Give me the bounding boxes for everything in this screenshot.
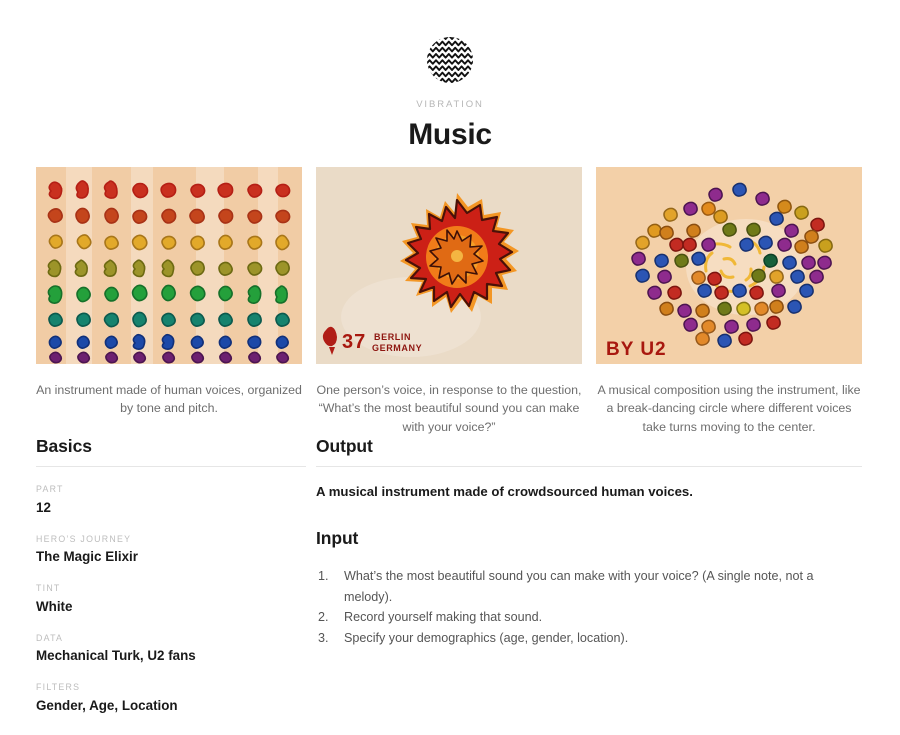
field-label: PART: [36, 485, 306, 494]
basics-divider: [36, 466, 306, 467]
page-kicker: VIBRATION: [0, 100, 900, 110]
list-item: What’s the most beautiful sound you can …: [316, 566, 862, 607]
field-value: 12: [36, 500, 306, 517]
composition-spiral-artwork: BY U2: [596, 167, 862, 364]
field-data: DATA Mechanical Turk, U2 fans: [36, 634, 306, 666]
gallery-item-instrument: An instrument made of human voices, orga…: [36, 167, 302, 436]
single-voice-starburst-artwork: 37 BERLIN GERMANY: [316, 167, 582, 364]
page-title: Music: [0, 119, 900, 151]
artwork-credit: BY U2: [606, 339, 667, 360]
vibration-wave-circle-icon: [418, 34, 482, 86]
output-text: A musical instrument made of crowdsource…: [316, 483, 862, 501]
gallery-caption: One person’s voice, in response to the q…: [316, 381, 582, 436]
field-label: TINT: [36, 584, 306, 593]
gallery-row: An instrument made of human voices, orga…: [36, 167, 862, 436]
field-part: PART 12: [36, 485, 306, 517]
field-heros-journey: HERO’S JOURNEY The Magic Elixir: [36, 535, 306, 567]
output-input-section: Output A musical instrument made of crow…: [316, 436, 862, 715]
list-item: Record yourself making that sound.: [316, 607, 862, 627]
output-divider: [316, 466, 862, 467]
field-filters: FILTERS Gender, Age, Location: [36, 683, 306, 715]
output-heading: Output: [316, 436, 862, 457]
gallery-caption: An instrument made of human voices, orga…: [36, 381, 302, 418]
input-heading: Input: [316, 528, 862, 549]
instrument-voice-grid-artwork: [36, 167, 302, 364]
details-columns: Basics PART 12 HERO’S JOURNEY The Magic …: [36, 436, 862, 715]
field-value: The Magic Elixir: [36, 549, 306, 566]
svg-text:BERLIN: BERLIN: [374, 332, 411, 342]
field-label: DATA: [36, 634, 306, 643]
field-value: Gender, Age, Location: [36, 698, 306, 715]
input-steps-list: What’s the most beautiful sound you can …: [316, 566, 862, 648]
field-label: HERO’S JOURNEY: [36, 535, 306, 544]
basics-heading: Basics: [36, 436, 306, 457]
gallery-item-composition: BY U2 A musical composition using the in…: [596, 167, 862, 436]
gallery-caption: A musical composition using the instrume…: [596, 381, 862, 436]
field-value: Mechanical Turk, U2 fans: [36, 648, 306, 665]
field-label: FILTERS: [36, 683, 306, 692]
svg-text:GERMANY: GERMANY: [372, 343, 422, 353]
gallery-item-single-voice: 37 BERLIN GERMANY One person’s voice, in…: [316, 167, 582, 436]
page-header: VIBRATION Music: [0, 0, 900, 150]
field-value: White: [36, 599, 306, 616]
field-tint: TINT White: [36, 584, 306, 616]
article-page: VIBRATION Music: [0, 0, 900, 735]
list-item: Specify your demographics (age, gender, …: [316, 628, 862, 648]
svg-text:37: 37: [342, 331, 366, 353]
basics-section: Basics PART 12 HERO’S JOURNEY The Magic …: [36, 436, 306, 715]
